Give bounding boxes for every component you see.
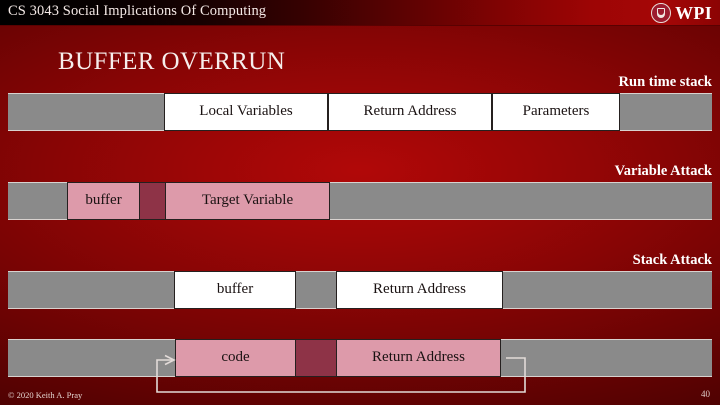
page-number: 40: [701, 389, 710, 399]
memory-bar-stack-attack: buffer Return Address: [8, 271, 712, 309]
cell-return-address: Return Address: [328, 93, 492, 131]
memory-bar-variable-attack: buffer Target Variable: [8, 182, 712, 220]
course-title: CS 3043 Social Implications Of Computing: [8, 3, 266, 20]
cell-overflow-gap-overwritten-stack: [296, 339, 336, 377]
cell-return-address-overwritten: Return Address: [336, 339, 501, 377]
wpi-wordmark: WPI: [675, 4, 712, 22]
cell-return-address-stack-attack: Return Address: [336, 271, 503, 309]
slide-banner: CS 3043 Social Implications Of Computing…: [0, 0, 720, 26]
wpi-logo: WPI: [651, 1, 712, 25]
cell-overflow-gap-variable-attack: [140, 182, 165, 220]
cell-local-variables: Local Variables: [164, 93, 328, 131]
cell-buffer-variable-attack: buffer: [67, 182, 140, 220]
copyright-notice: © 2020 Keith A. Pray: [8, 390, 82, 400]
cell-buffer-stack-attack: buffer: [174, 271, 296, 309]
caption-stack-attack: Stack Attack: [633, 252, 712, 269]
caption-run-time-stack: Run time stack: [619, 74, 712, 91]
memory-bar-run-time-stack: Local Variables Return Address Parameter…: [8, 93, 712, 131]
cell-code: code: [175, 339, 296, 377]
cell-parameters: Parameters: [492, 93, 620, 131]
cell-target-variable: Target Variable: [165, 182, 330, 220]
caption-variable-attack: Variable Attack: [615, 163, 712, 180]
wpi-seal-icon: [651, 3, 671, 23]
memory-bar-overwritten-stack: code Return Address: [8, 339, 712, 377]
page-title: BUFFER OVERRUN: [58, 48, 285, 76]
slide-canvas: CS 3043 Social Implications Of Computing…: [0, 0, 720, 405]
